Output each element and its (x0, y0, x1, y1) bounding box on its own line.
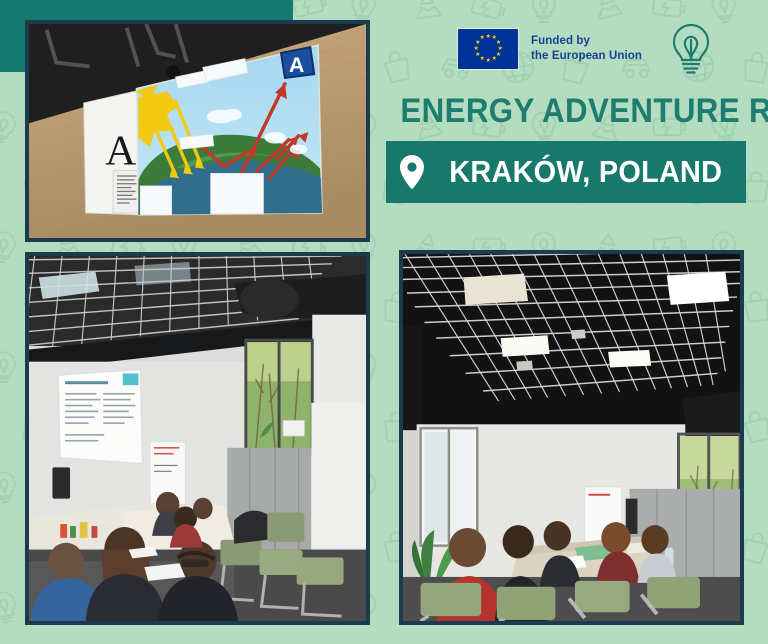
page-title: ENERGY ADVENTURE ROOM (400, 94, 731, 128)
eu-flag-icon: ★★★★★★★★★★★★ (458, 29, 518, 69)
eu-star: ★ (498, 47, 503, 52)
funding-line-2: the European Union (531, 49, 642, 64)
eu-star: ★ (480, 36, 485, 41)
header: ★★★★★★★★★★★★ Funded by the European Unio… (386, 20, 746, 203)
eu-star: ★ (475, 41, 480, 46)
eu-star: ★ (474, 47, 479, 52)
group-work-room-photo (399, 250, 744, 625)
location-label: KRAKÓW, POLAND (450, 154, 723, 190)
lightbulb-leaf-icon (669, 23, 713, 75)
svg-text:A: A (105, 128, 136, 175)
eu-star: ★ (486, 35, 491, 40)
greenhouse-effect-poster-photo: A (25, 20, 370, 242)
eu-funding-block: ★★★★★★★★★★★★ Funded by the European Unio… (386, 20, 746, 78)
svg-text:A: A (289, 53, 305, 77)
map-pin-icon (399, 155, 425, 189)
funding-text: Funded by the European Union (531, 34, 642, 64)
workshop-presentation-photo (25, 252, 370, 625)
location-badge: KRAKÓW, POLAND (386, 141, 746, 203)
eu-star: ★ (486, 59, 491, 64)
eu-star: ★ (496, 41, 501, 46)
eu-star: ★ (475, 53, 480, 58)
eu-star: ★ (480, 57, 485, 62)
eu-star: ★ (492, 57, 497, 62)
funding-line-1: Funded by (531, 34, 642, 49)
